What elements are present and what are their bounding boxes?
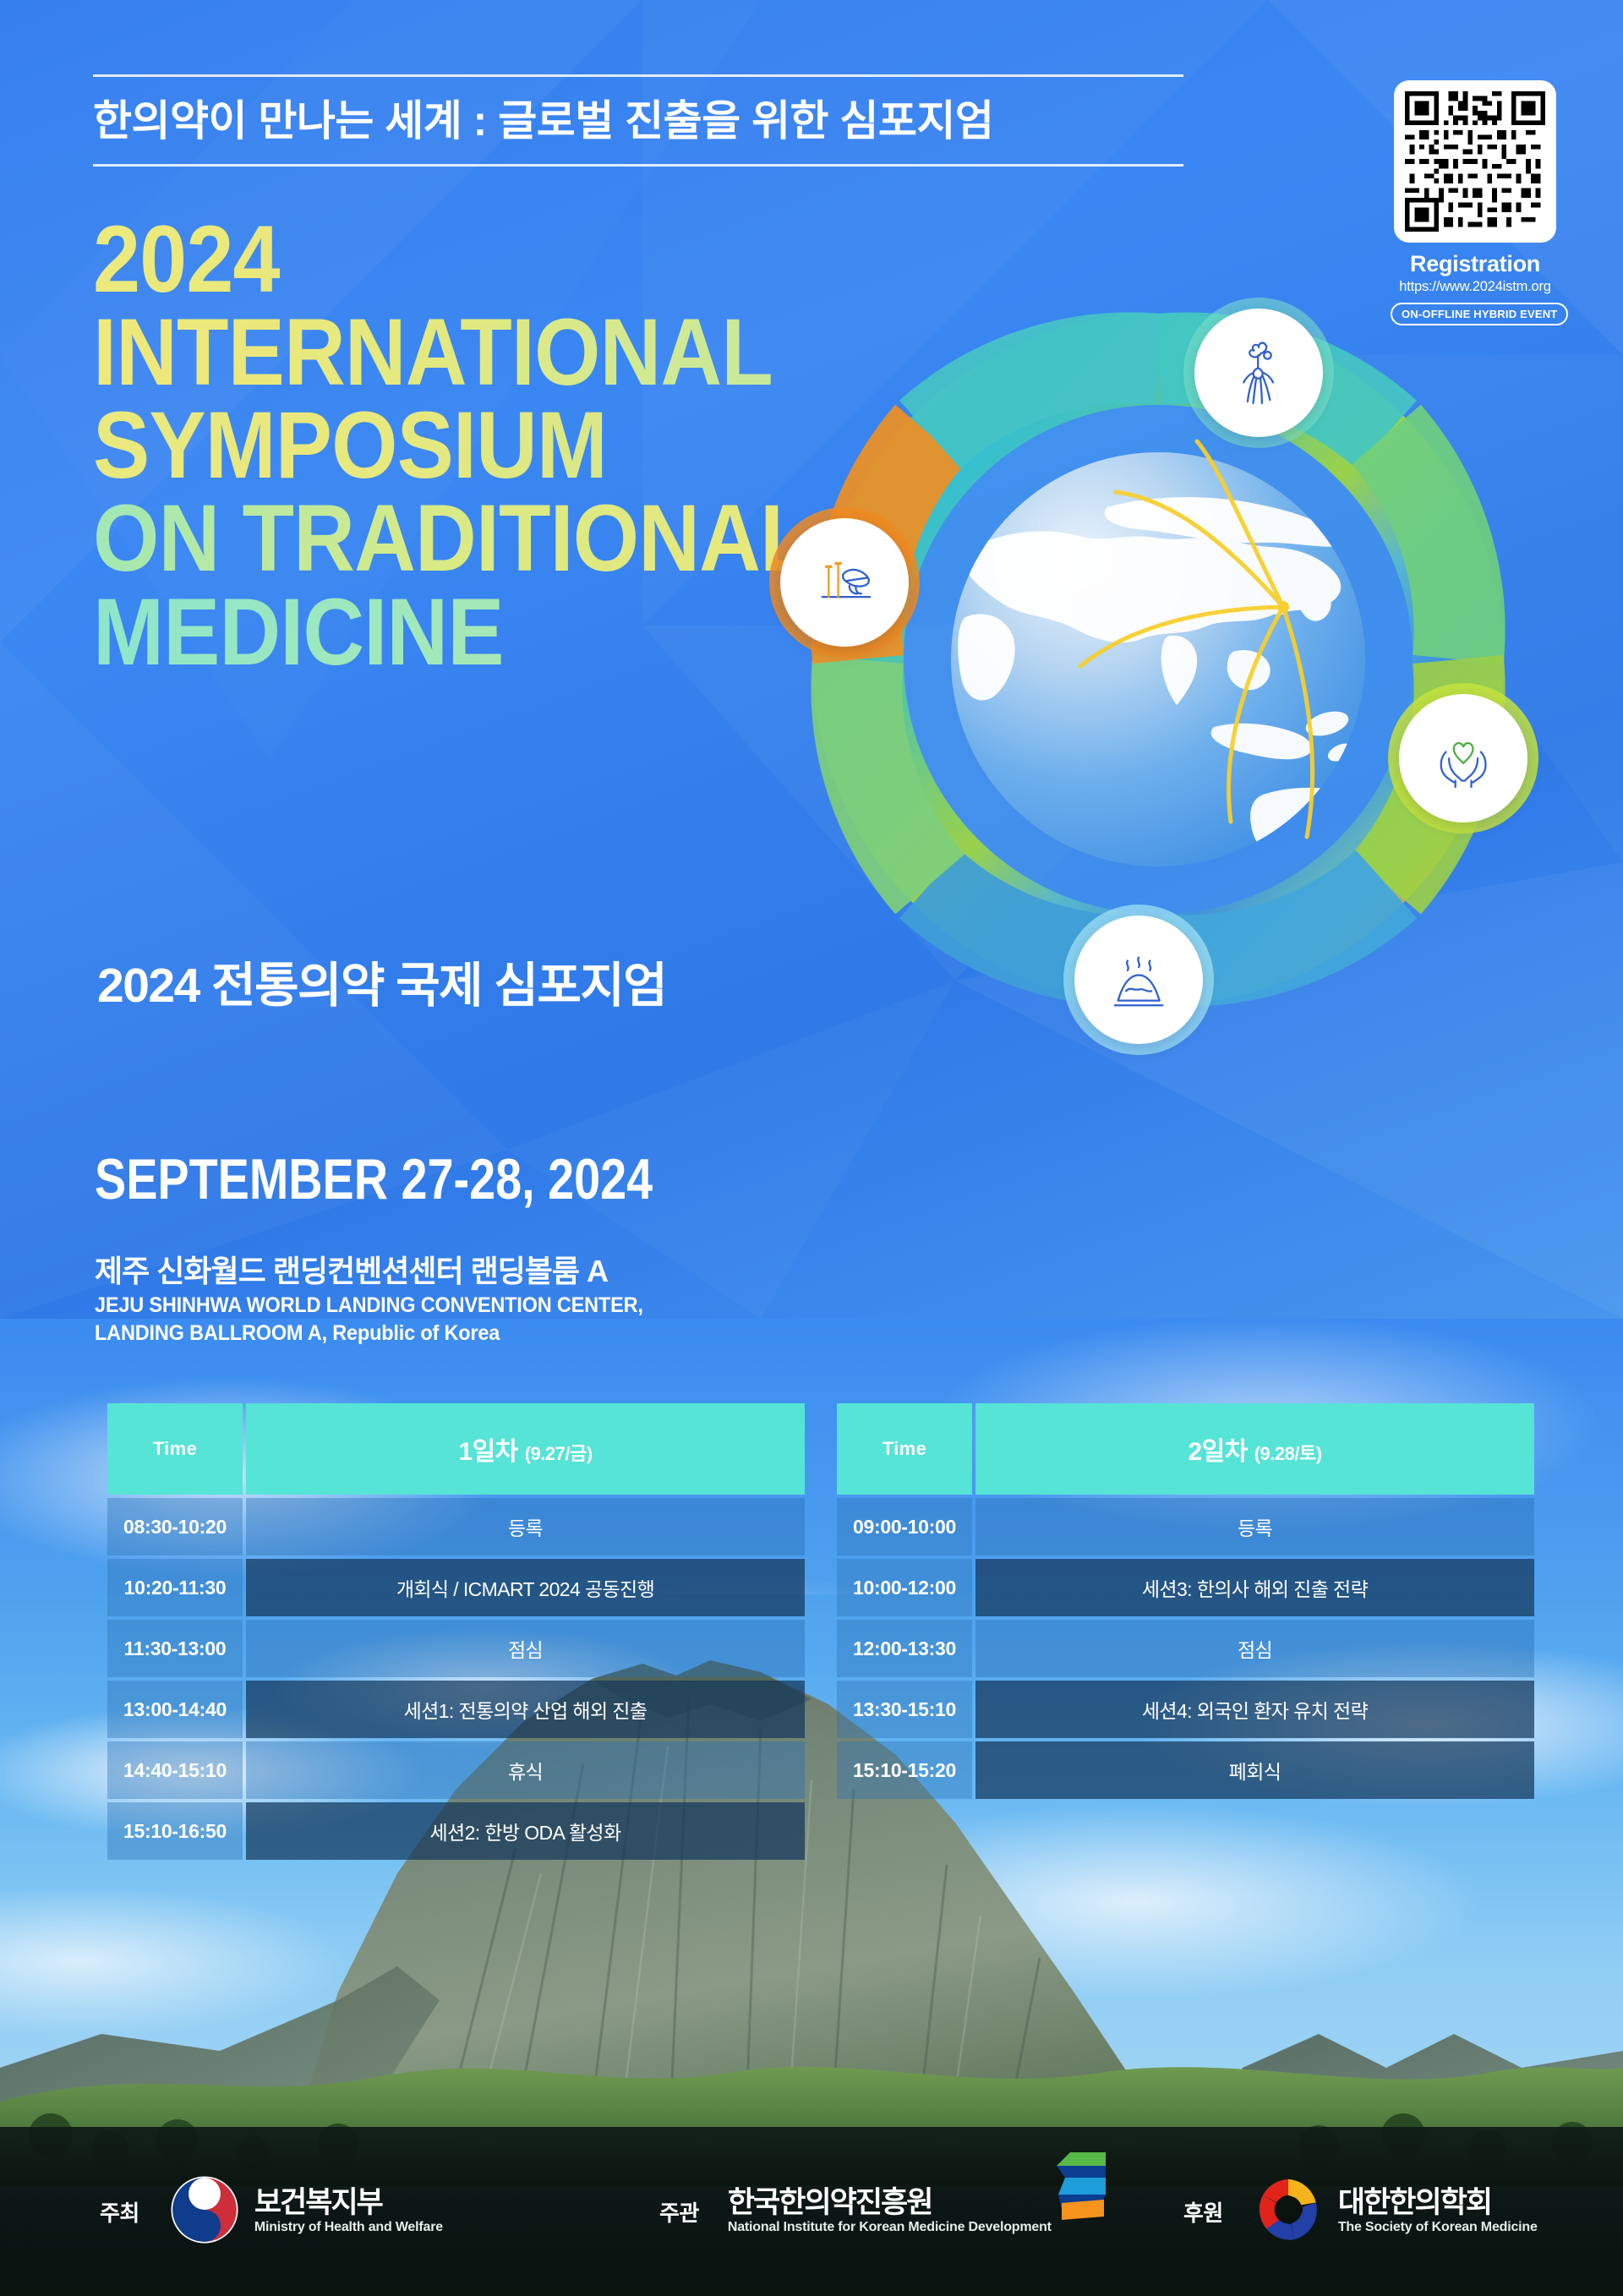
event-value: 점심 xyxy=(1238,1634,1272,1663)
day2-title: 2일차 (9.28/토) xyxy=(1188,1430,1321,1468)
time-value: 10:20-11:30 xyxy=(124,1577,227,1599)
time-value: 13:00-14:40 xyxy=(123,1698,227,1721)
cell-event: 점심 xyxy=(246,1620,805,1677)
title-line-4: MEDICINE xyxy=(93,588,854,676)
table-row: 12:00-13:30점심 xyxy=(837,1620,1534,1677)
sponsor-role-label: 후원 xyxy=(1183,2196,1223,2228)
table-header-row: Time 2일차 (9.28/토) xyxy=(837,1403,1534,1495)
herbal-decoction-pot-icon xyxy=(1099,940,1178,1020)
venue-english-line-1: JEJU SHINHWA WORLD LANDING CONVENTION CE… xyxy=(95,1292,643,1320)
tagline-rule-bottom xyxy=(93,164,1183,167)
cell-time: 12:00-13:30 xyxy=(837,1620,972,1677)
cell-event: 점심 xyxy=(975,1620,1534,1677)
hands-holding-heart-icon xyxy=(1424,719,1503,798)
header-cell-time: Time xyxy=(107,1403,243,1495)
time-value: 15:10-16:50 xyxy=(123,1820,227,1843)
event-value: 등록 xyxy=(508,1512,543,1541)
cell-event: 세션1: 전통의약 산업 해외 진출 xyxy=(246,1681,805,1738)
organizer-name-en: Ministry of Health and Welfare xyxy=(254,2220,443,2235)
time-value: 08:30-10:20 xyxy=(123,1516,227,1539)
cell-time: 14:40-15:10 xyxy=(107,1741,243,1799)
schedule-section: Time 1일차 (9.27/금) 08:30-10:20등록10:20-11:… xyxy=(0,1403,1623,1927)
event-value: 세션1: 전통의약 산업 해외 진출 xyxy=(404,1695,648,1724)
sponsor-group: 후원 대한한의학회 The Society of Korean Medicine xyxy=(1183,2173,1538,2250)
cell-time: 08:30-10:20 xyxy=(107,1498,243,1555)
cell-time: 15:10-15:20 xyxy=(837,1741,972,1799)
cell-event: 세션2: 한방 ODA 활성화 xyxy=(246,1802,805,1860)
time-value: 11:30-13:00 xyxy=(124,1637,227,1660)
poster-canvas: 한의약이 만나는 세계 : 글로벌 진출을 위한 심포지엄 xyxy=(0,0,1623,2296)
time-value: 09:00-10:00 xyxy=(853,1516,956,1539)
cell-time: 15:10-16:50 xyxy=(107,1802,243,1860)
header-cell-time: Time xyxy=(837,1403,972,1495)
table-row: 11:30-13:00점심 xyxy=(107,1620,805,1677)
icon-bubble-care xyxy=(1388,683,1538,834)
table-row: 10:20-11:30개회식 / ICMART 2024 공동진행 xyxy=(107,1559,805,1616)
event-value: 개회식 / ICMART 2024 공동진행 xyxy=(396,1573,654,1602)
cell-time: 09:00-10:00 xyxy=(837,1498,972,1555)
icon-bubble-ginseng xyxy=(1183,298,1334,448)
organizer-role-label: 주최 xyxy=(100,2196,139,2228)
header-cell-day: 2일차 (9.28/토) xyxy=(975,1403,1534,1495)
host-name-en: National Institute for Korean Medicine D… xyxy=(728,2220,1052,2235)
sponsor-name-en: The Society of Korean Medicine xyxy=(1338,2220,1538,2235)
cell-event: 휴식 xyxy=(246,1741,805,1799)
korean-subtitle: 2024 전통의약 국제 심포지엄 xyxy=(97,947,666,1016)
korean-tagline: 한의약이 만나는 세계 : 글로벌 진출을 위한 심포지엄 xyxy=(93,99,1183,144)
cell-time: 13:30-15:10 xyxy=(837,1681,972,1738)
venue-english: JEJU SHINHWA WORLD LANDING CONVENTION CE… xyxy=(95,1292,643,1348)
nikom-ribbon-logo xyxy=(1053,2151,1107,2233)
cell-event: 세션4: 외국인 환자 유치 전략 xyxy=(975,1681,1534,1738)
venue-english-line-2: LANDING BALLROOM A, Republic of Korea xyxy=(95,1320,643,1348)
host-name-kr: 한국한의약진흥원 xyxy=(728,2188,1052,2219)
table-row: 08:30-10:20등록 xyxy=(107,1498,805,1555)
header-cell-day: 1일차 (9.27/금) xyxy=(246,1403,805,1495)
qr-code-icon xyxy=(1405,91,1545,232)
cell-event: 개회식 / ICMART 2024 공동진행 xyxy=(246,1559,805,1616)
qr-code[interactable] xyxy=(1394,80,1556,243)
table-row: 09:00-10:00등록 xyxy=(837,1498,1534,1555)
host-group: 주관 한국한의약진흥원 National Institute for Korea… xyxy=(659,2188,1052,2236)
ginseng-root-icon xyxy=(1219,333,1298,413)
symposium-ring-graphic xyxy=(744,254,1572,1082)
society-korean-medicine-ring-logo xyxy=(1252,2173,1325,2250)
event-date: SEPTEMBER 27-28, 2024 xyxy=(95,1146,653,1212)
schedule-table-day2: Time 2일차 (9.28/토) 09:00-10:00등록10:00-12:… xyxy=(837,1403,1534,1802)
table-row: 10:00-12:00세션3: 한의사 해외 진출 전략 xyxy=(837,1559,1534,1616)
acupuncture-needles-icon xyxy=(805,543,884,622)
day1-title: 1일차 (9.27/금) xyxy=(458,1430,592,1468)
title-year: 2024 xyxy=(93,216,854,303)
table-row: 14:40-15:10휴식 xyxy=(107,1741,805,1799)
cell-event: 세션3: 한의사 해외 진출 전략 xyxy=(975,1559,1534,1616)
sponsor-name-kr: 대한한의학회 xyxy=(1338,2188,1538,2219)
time-value: 10:00-12:00 xyxy=(853,1577,956,1599)
table-row: 13:30-15:10세션4: 외국인 환자 유치 전략 xyxy=(837,1681,1534,1738)
event-value: 세션2: 한방 ODA 활성화 xyxy=(429,1817,620,1845)
time-value: 15:10-15:20 xyxy=(853,1759,956,1782)
cell-event: 등록 xyxy=(246,1498,805,1555)
venue-korean: 제주 신화월드 랜딩컨벤션센터 랜딩볼룸 A xyxy=(95,1247,608,1291)
korea-government-taegeuk-logo xyxy=(168,2173,241,2250)
organizer-name-kr: 보건복지부 xyxy=(254,2188,443,2219)
title-line-3: ON TRADITIONAL xyxy=(93,495,854,582)
schedule-table-day1: Time 1일차 (9.27/금) 08:30-10:20등록10:20-11:… xyxy=(107,1403,805,1863)
time-value: 12:00-13:30 xyxy=(853,1637,956,1660)
cell-time: 11:30-13:00 xyxy=(107,1620,243,1677)
event-value: 폐회식 xyxy=(1229,1756,1281,1785)
icon-bubble-acupuncture xyxy=(769,507,920,658)
time-value: 13:30-15:10 xyxy=(853,1698,956,1721)
event-value: 세션3: 한의사 해외 진출 전략 xyxy=(1142,1573,1368,1602)
title-line-2: SYMPOSIUM xyxy=(93,402,854,489)
event-value: 휴식 xyxy=(508,1756,543,1785)
table-row: 15:10-15:20폐회식 xyxy=(837,1741,1534,1799)
time-header-label: Time xyxy=(883,1438,927,1460)
table-row: 15:10-16:50세션2: 한방 ODA 활성화 xyxy=(107,1802,805,1860)
event-date-block: SEPTEMBER 27-28, 2024 xyxy=(95,1146,775,1212)
cell-time: 13:00-14:40 xyxy=(107,1681,243,1738)
event-value: 점심 xyxy=(508,1634,543,1663)
korean-tagline-block: 한의약이 만나는 세계 : 글로벌 진출을 위한 심포지엄 xyxy=(93,74,1183,167)
table-row: 13:00-14:40세션1: 전통의약 산업 해외 진출 xyxy=(107,1681,805,1738)
cell-time: 10:00-12:00 xyxy=(837,1559,972,1616)
host-role-label: 주관 xyxy=(659,2196,699,2228)
tagline-rule-top xyxy=(93,74,1183,77)
icon-bubble-herbal-pot xyxy=(1063,905,1214,1055)
event-value: 등록 xyxy=(1238,1512,1272,1541)
title-line-1: INTERNATIONAL xyxy=(93,309,854,396)
cell-event: 폐회식 xyxy=(975,1741,1534,1799)
event-value: 세션4: 외국인 환자 유치 전략 xyxy=(1142,1695,1368,1724)
cell-time: 10:20-11:30 xyxy=(107,1559,243,1616)
organizer-group: 주최 보건복지부 Ministry of Health and Welfare xyxy=(100,2173,443,2250)
time-header-label: Time xyxy=(153,1438,198,1460)
table-header-row: Time 1일차 (9.27/금) xyxy=(107,1403,805,1495)
cell-event: 등록 xyxy=(975,1498,1534,1555)
time-value: 14:40-15:10 xyxy=(123,1759,227,1782)
footer-logos: 주최 보건복지부 Ministry of Health and Welfare xyxy=(0,2127,1623,2296)
